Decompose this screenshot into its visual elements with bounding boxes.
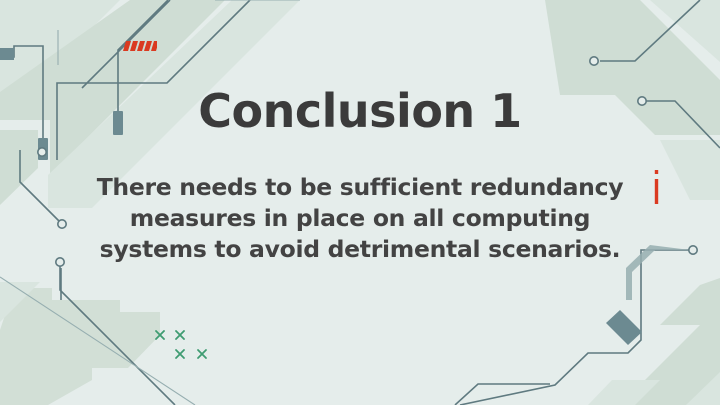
slide-body-text: There needs to be sufficient redundancy … <box>90 172 630 265</box>
slide-content: Conclusion 1 There needs to be sufficien… <box>0 0 720 405</box>
page-title: Conclusion 1 <box>0 86 720 137</box>
slide-canvas: Conclusion 1 There needs to be sufficien… <box>0 0 720 405</box>
